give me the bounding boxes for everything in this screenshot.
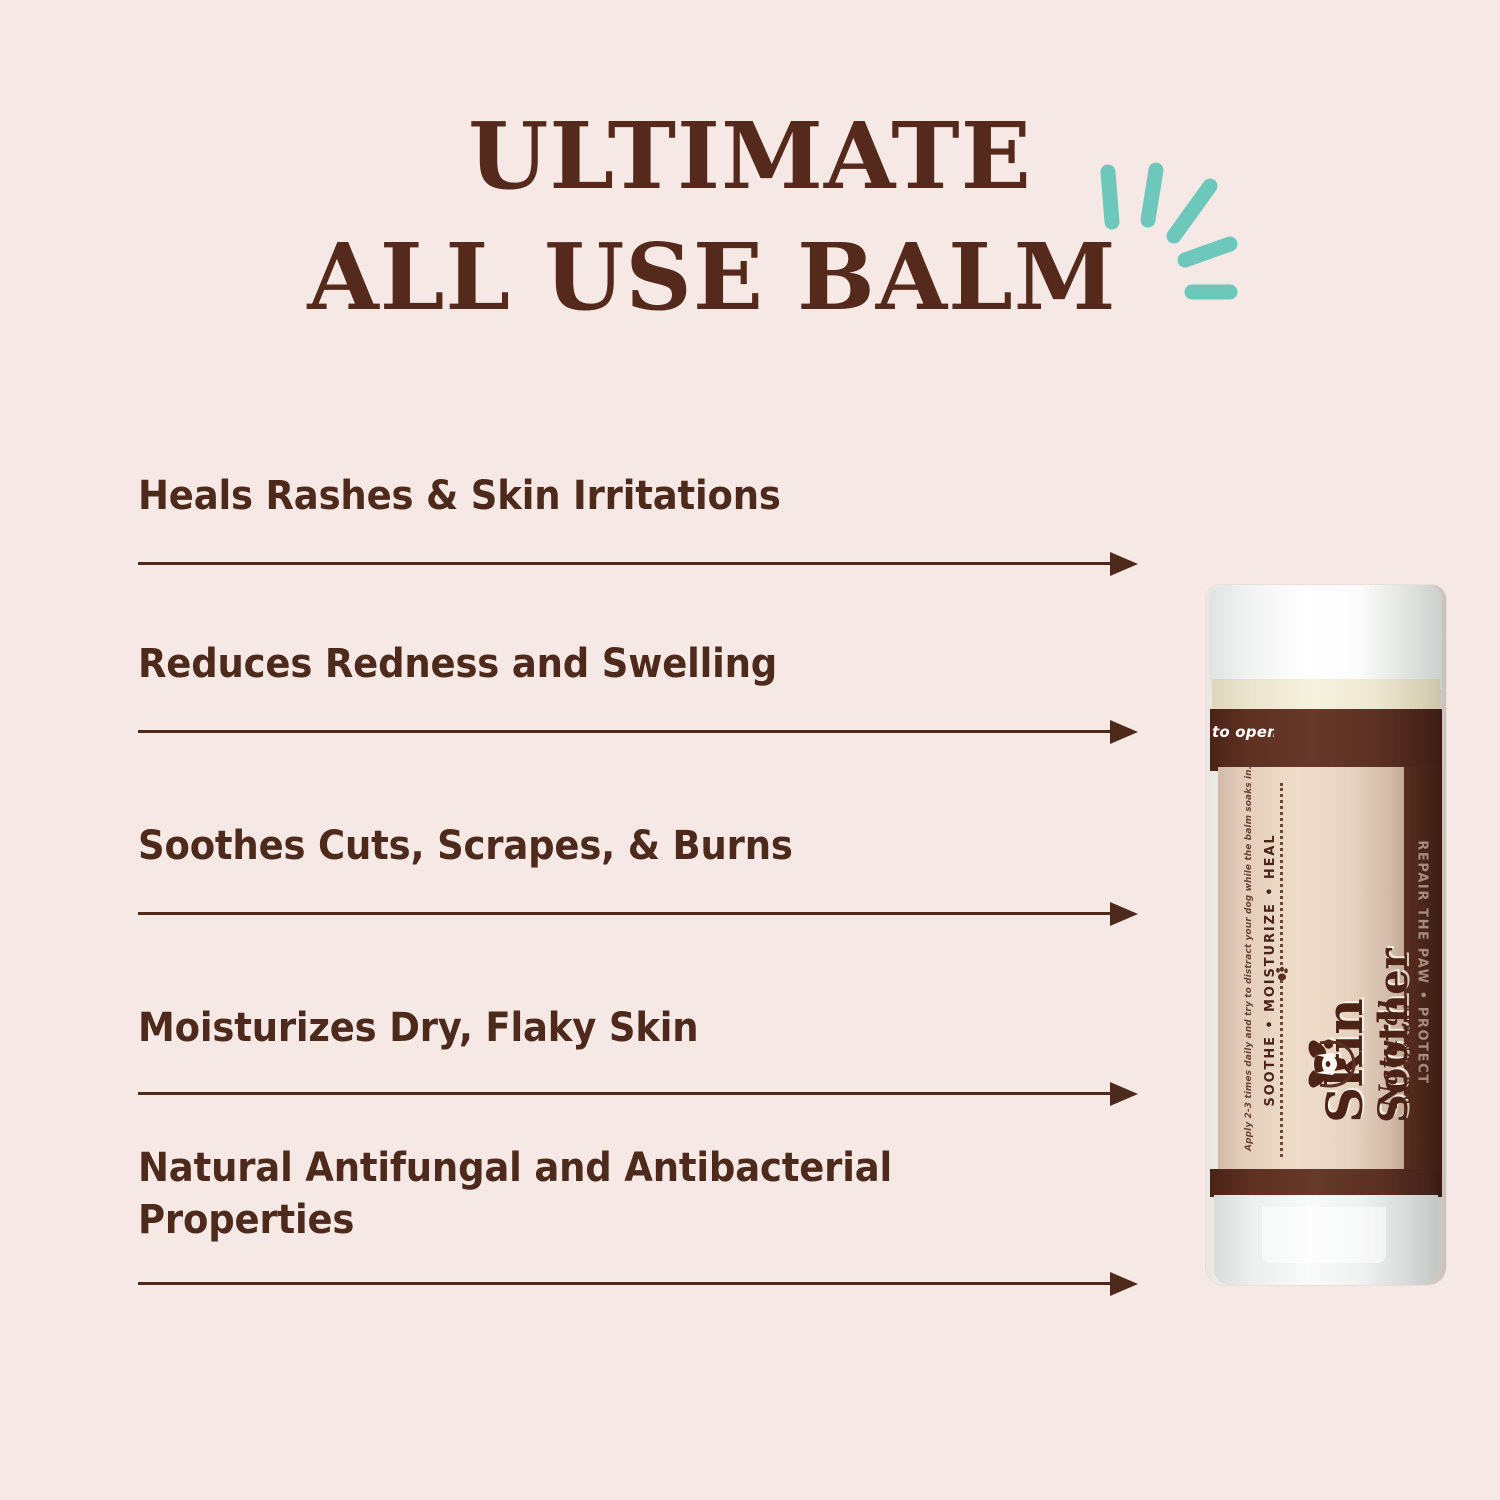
arrow-head-icon <box>1110 902 1138 926</box>
headline-line-1: ULTIMATE <box>0 96 1500 217</box>
band-open-text: to open <box>1212 723 1274 741</box>
brand-subtitle: DOG COMPANY <box>1403 989 1413 1119</box>
benefit-item: Natural Antifungal and Antibacterial Pro… <box>138 1142 1158 1302</box>
tube-cap <box>1210 585 1442 689</box>
label-directions-text: Apply 2-3 times daily and try to distrac… <box>1244 795 1254 1151</box>
arrow-line <box>138 912 1114 915</box>
brand-lockup: Natural DOG COMPANY <box>1376 989 1413 1119</box>
sparkle-burst-icon <box>1082 150 1267 335</box>
product-label-panel: Apply 2-3 times daily and try to distrac… <box>1218 767 1404 1173</box>
benefit-label: Heals Rashes & Skin Irritations <box>138 470 1082 522</box>
arrow-head-icon <box>1110 1272 1138 1296</box>
arrow-line <box>138 1282 1114 1285</box>
tube-base-notch <box>1262 1207 1386 1263</box>
arrow-line <box>138 1092 1114 1095</box>
infographic-canvas: ULTIMATE ALL USE BALM Heals Rashes & Ski… <box>0 0 1500 1500</box>
tube-band-bottom <box>1210 1169 1442 1197</box>
benefit-arrow-rule <box>138 552 1152 574</box>
benefit-item: Soothes Cuts, Scrapes, & Burns <box>138 820 1158 1002</box>
arrow-head-icon <box>1110 1082 1138 1106</box>
arrow-head-icon <box>1110 720 1138 744</box>
benefit-label: Soothes Cuts, Scrapes, & Burns <box>138 820 1082 872</box>
benefit-arrow-rule <box>138 1082 1152 1104</box>
dog-face-logo-icon <box>1300 1035 1358 1093</box>
benefit-item: Heals Rashes & Skin Irritations <box>138 470 1158 638</box>
benefit-list: Heals Rashes & Skin Irritations Reduces … <box>138 470 1158 1302</box>
benefit-arrow-rule <box>138 902 1152 924</box>
arrow-head-icon <box>1110 552 1138 576</box>
arrow-line <box>138 730 1114 733</box>
benefit-label: Moisturizes Dry, Flaky Skin <box>138 1002 1082 1054</box>
page-title: ULTIMATE ALL USE BALM <box>0 96 1500 339</box>
benefit-arrow-rule <box>138 1272 1152 1294</box>
benefit-label: Reduces Redness and Swelling <box>138 638 1082 690</box>
paw-print-icon <box>1273 965 1291 983</box>
brand-name: Natural <box>1376 989 1402 1119</box>
benefit-item: Reduces Redness and Swelling <box>138 638 1158 820</box>
arrow-line <box>138 562 1114 565</box>
benefit-item: Moisturizes Dry, Flaky Skin <box>138 1002 1158 1142</box>
product-image-skin-soother-tube: to open REPAIR THE PAW • PROTECT Apply 2… <box>1206 585 1446 1285</box>
benefit-label: Natural Antifungal and Antibacterial Pro… <box>138 1142 1082 1246</box>
benefit-arrow-rule <box>138 720 1152 742</box>
